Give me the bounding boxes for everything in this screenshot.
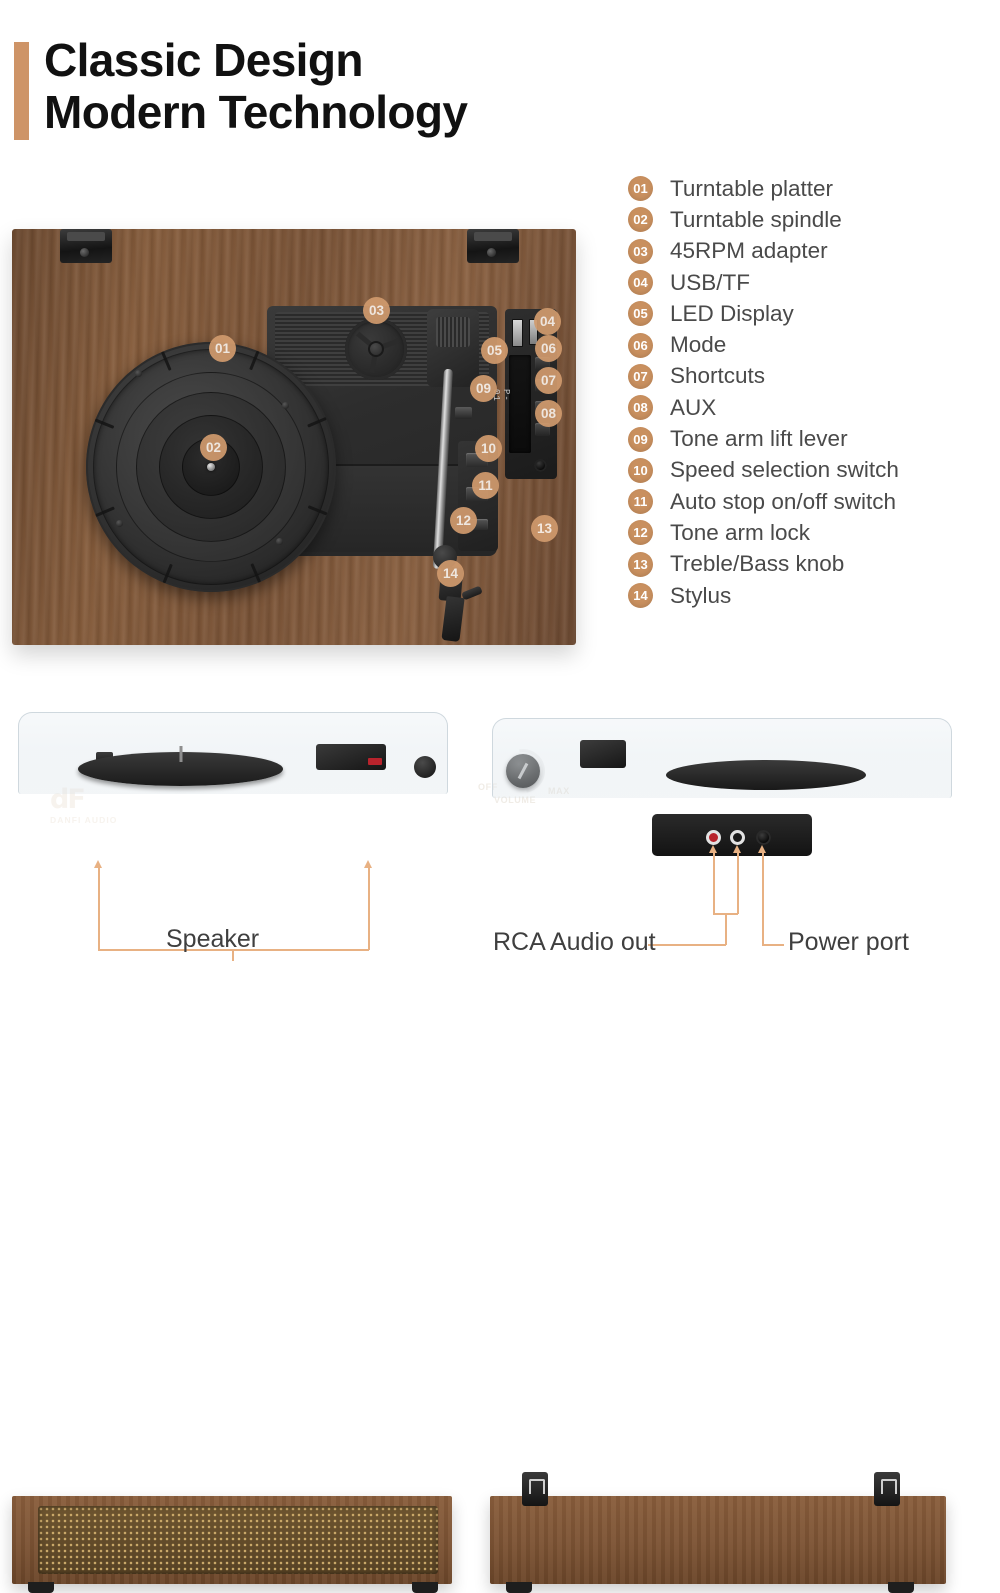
legend-item-label: AUX	[670, 395, 716, 421]
platter-front-view	[78, 752, 283, 786]
photo-callout-12: 12	[450, 507, 477, 534]
speaker-arrow-right-icon	[364, 860, 372, 868]
speaker-pointer-left	[98, 868, 100, 950]
turntable-platter	[86, 342, 336, 592]
stylus-finger-lift	[461, 586, 483, 601]
speaker-arrow-left-icon	[94, 860, 102, 868]
legend-item-label: Treble/Bass knob	[670, 551, 844, 577]
legend-item: 11Auto stop on/off switch	[628, 486, 994, 517]
photo-callout-04: 04	[534, 308, 561, 335]
legend-item-label: Turntable platter	[670, 176, 833, 202]
cover-lock-left	[522, 1472, 548, 1506]
legend-item: 0345RPM adapter	[628, 236, 994, 267]
rca-jack-white[interactable]	[730, 830, 745, 845]
power-pointer	[762, 852, 764, 944]
photo-callout-02: 02	[200, 434, 227, 461]
accent-bar	[14, 42, 29, 140]
legend-badge: 09	[628, 427, 653, 452]
legend-badge: 07	[628, 364, 653, 389]
feature-legend-list: 01Turntable platter02Turntable spindle03…	[628, 173, 994, 611]
legend-item: 01Turntable platter	[628, 173, 994, 204]
aux-jack[interactable]	[534, 459, 547, 472]
led-display: P-01	[509, 355, 531, 453]
legend-badge: 01	[628, 176, 653, 201]
legend-badge: 04	[628, 270, 653, 295]
power-pointer-lead	[762, 944, 784, 946]
rca-pointer-stem	[725, 913, 727, 945]
legend-item: 08AUX	[628, 392, 994, 423]
legend-badge: 02	[628, 207, 653, 232]
photo-callout-01: 01	[209, 335, 236, 362]
legend-item: 05LED Display	[628, 298, 994, 329]
cover-lock-right	[874, 1472, 900, 1506]
speaker-pointer-right	[368, 868, 370, 950]
legend-item-label: LED Display	[670, 301, 794, 327]
hinge-right-icon	[467, 229, 519, 263]
legend-item: 13Treble/Bass knob	[628, 549, 994, 580]
rca-jack-red[interactable]	[706, 830, 721, 845]
hinge-left-icon	[60, 229, 112, 263]
legend-item-label: Turntable spindle	[670, 207, 842, 233]
photo-callout-09: 09	[470, 375, 497, 402]
stylus	[441, 596, 464, 642]
tonearm-rear	[580, 740, 626, 768]
photo-callout-14: 14	[437, 560, 464, 587]
legend-item: 02Turntable spindle	[628, 204, 994, 235]
legend-badge: 06	[628, 333, 653, 358]
legend-badge: 11	[628, 489, 653, 514]
speaker-grille	[38, 1506, 438, 1574]
legend-item: 12Tone arm lock	[628, 517, 994, 548]
turntable-spindle	[207, 463, 215, 471]
cartridge-front	[368, 758, 382, 765]
legend-item-label: 45RPM adapter	[670, 238, 828, 264]
legend-item-label: Stylus	[670, 583, 731, 609]
tonearm-front	[316, 744, 386, 770]
legend-item: 04USB/TF	[628, 267, 994, 298]
legend-item: 07Shortcuts	[628, 361, 994, 392]
power-port[interactable]	[756, 830, 771, 845]
legend-item-label: USB/TF	[670, 270, 750, 296]
rca-pointer-white	[737, 852, 739, 914]
photo-callout-13: 13	[531, 515, 558, 542]
rca-label: RCA Audio out	[493, 928, 656, 957]
photo-callout-11: 11	[472, 472, 499, 499]
legend-badge: 12	[628, 520, 653, 545]
power-arrow-icon	[758, 845, 766, 853]
photo-callout-07: 07	[535, 367, 562, 394]
legend-item: 09Tone arm lift lever	[628, 423, 994, 454]
platter-rear-view	[666, 760, 866, 790]
photo-callout-10: 10	[475, 435, 502, 462]
front-view-photo	[0, 700, 470, 1000]
rca-pointer-lead	[648, 944, 726, 946]
legend-item-label: Shortcuts	[670, 363, 765, 389]
legend-badge: 05	[628, 301, 653, 326]
photo-callout-06: 06	[535, 335, 562, 362]
page-title: Classic Design Modern Technology	[44, 34, 467, 139]
45rpm-adapter	[345, 318, 407, 380]
legend-item-label: Mode	[670, 332, 726, 358]
title-line-1: Classic Design	[44, 34, 467, 86]
photo-callout-03: 03	[363, 297, 390, 324]
rca-arrow-red-icon	[709, 845, 717, 853]
rca-arrow-white-icon	[733, 845, 741, 853]
legend-item: 06Mode	[628, 329, 994, 360]
legend-item: 14Stylus	[628, 580, 994, 611]
legend-badge: 13	[628, 552, 653, 577]
heading-block: Classic Design Modern Technology	[0, 0, 620, 160]
rca-pointer-red	[713, 852, 715, 914]
legend-badge: 14	[628, 583, 653, 608]
legend-item-label: Speed selection switch	[670, 457, 899, 483]
usb-port[interactable]	[512, 319, 523, 347]
legend-item-label: Auto stop on/off switch	[670, 489, 896, 515]
legend-item-label: Tone arm lift lever	[670, 426, 848, 452]
tonearm-base	[427, 309, 479, 387]
title-line-2: Modern Technology	[44, 86, 467, 138]
legend-item-label: Tone arm lock	[670, 520, 810, 546]
knob-front	[414, 756, 436, 778]
photo-callout-08: 08	[535, 400, 562, 427]
legend-badge: 08	[628, 395, 653, 420]
tonearm-lift-lever[interactable]	[455, 407, 472, 419]
power-label: Power port	[788, 928, 909, 957]
speaker-label: Speaker	[166, 925, 259, 954]
turntable-top-view-photo: P-01 OFF MAX VOLUME dF DANFI AUDIO	[12, 215, 576, 645]
legend-badge: 03	[628, 239, 653, 264]
legend-badge: 10	[628, 458, 653, 483]
photo-callout-05: 05	[481, 337, 508, 364]
legend-item: 10Speed selection switch	[628, 455, 994, 486]
